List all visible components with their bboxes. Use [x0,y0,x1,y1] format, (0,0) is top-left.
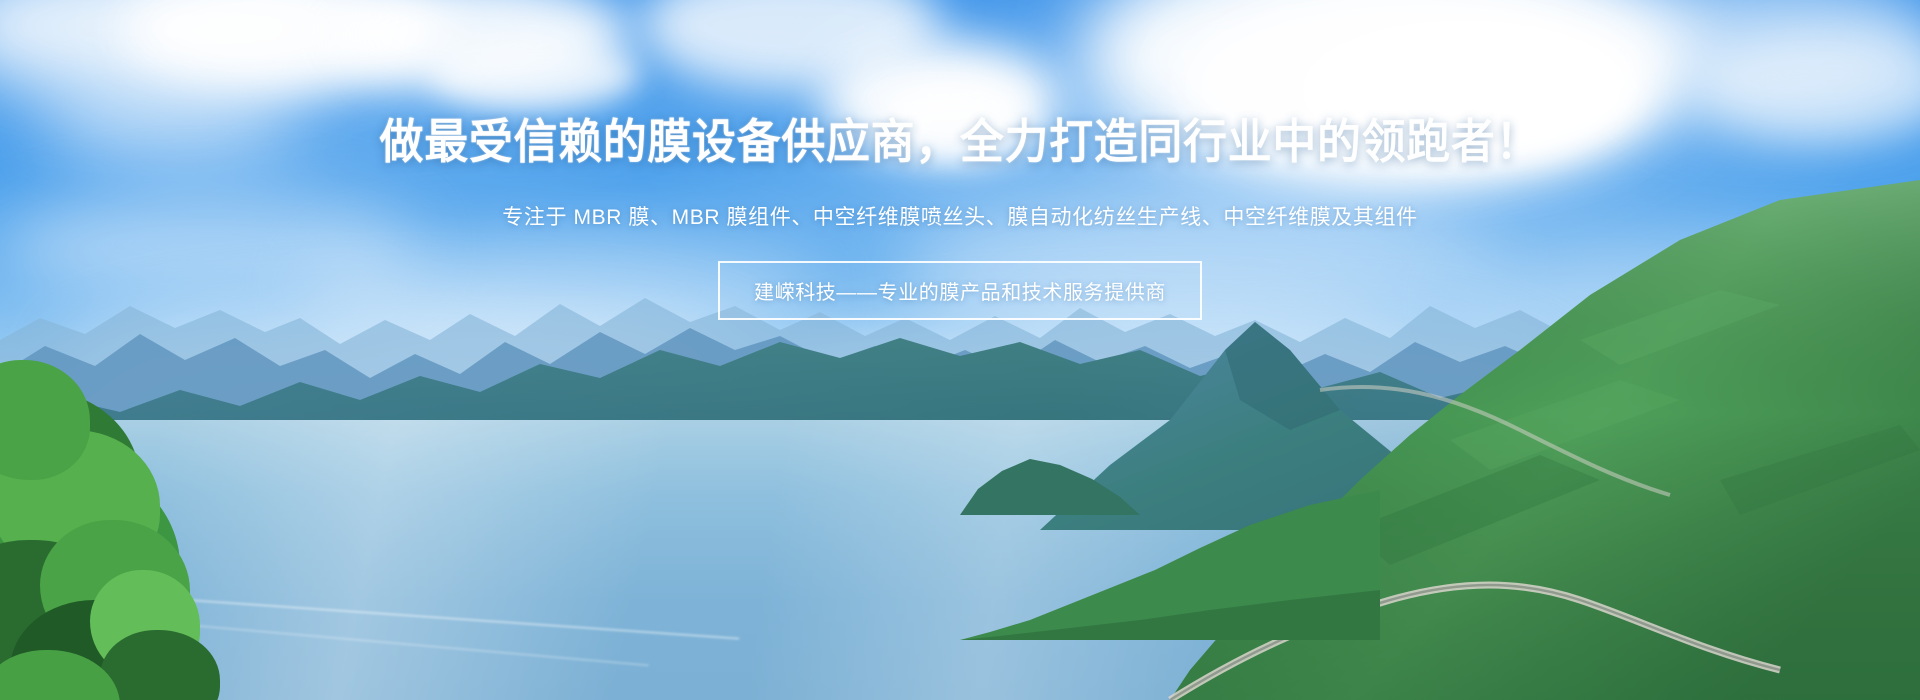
foreground-foliage [0,370,340,700]
hero-banner: 做最受信赖的膜设备供应商，全力打造同行业中的领跑者！ 专注于 MBR 膜、MBR… [0,0,1920,700]
shore-headland [960,470,1380,640]
